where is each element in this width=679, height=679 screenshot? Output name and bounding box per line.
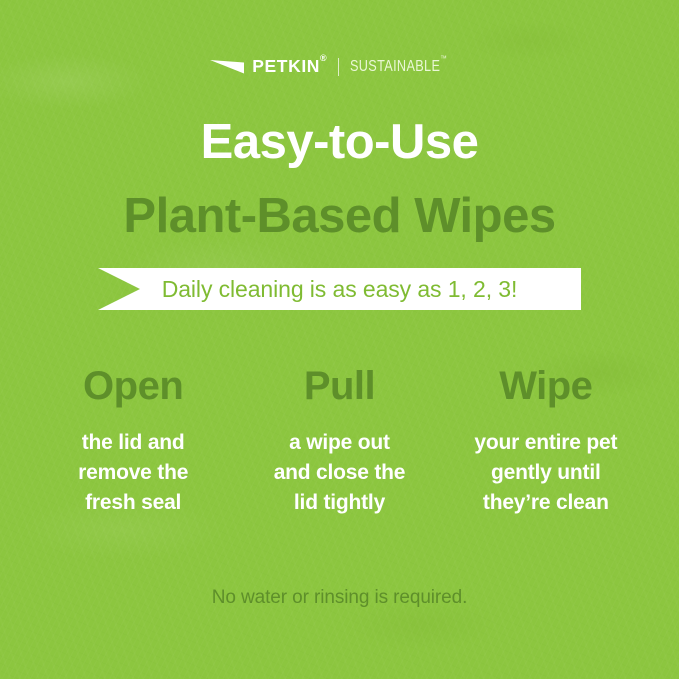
step-body-line: a wipe out: [240, 428, 438, 458]
step-body: the lid and remove the fresh seal: [34, 428, 232, 517]
step-body-line: the lid and: [34, 428, 232, 458]
ribbon-banner: Daily cleaning is as easy as 1, 2, 3!: [98, 268, 581, 310]
brand-subline-text: SUSTAINABLE: [350, 58, 440, 75]
step-body-line: fresh seal: [34, 488, 232, 518]
step-title: Pull: [240, 366, 438, 406]
step-open: Open the lid and remove the fresh seal: [30, 366, 236, 517]
registered-mark-icon: ®: [320, 53, 327, 63]
step-pull: Pull a wipe out and close the lid tightl…: [236, 366, 442, 517]
petkin-swoosh-icon: [210, 60, 244, 75]
brand-lockup: PETKIN® SUSTAINABLE™: [0, 56, 679, 78]
trademark-mark-icon: ™: [441, 54, 448, 63]
steps-row: Open the lid and remove the fresh seal P…: [30, 366, 649, 517]
step-body-line: they’re clean: [447, 488, 645, 518]
product-infographic-poster: PETKIN® SUSTAINABLE™ Easy-to-Use Plant-B…: [0, 0, 679, 679]
step-body: a wipe out and close the lid tightly: [240, 428, 438, 517]
step-body-line: remove the: [34, 458, 232, 488]
brand-name: PETKIN®: [252, 58, 327, 76]
step-body-line: and close the: [240, 458, 438, 488]
headline-line-1: Easy-to-Use: [0, 118, 679, 167]
ribbon-text: Daily cleaning is as easy as 1, 2, 3!: [162, 278, 518, 301]
step-title: Open: [34, 366, 232, 406]
step-body-line: gently until: [447, 458, 645, 488]
brand-name-text: PETKIN: [252, 56, 320, 76]
step-body: your entire pet gently until they’re cle…: [447, 428, 645, 517]
brand-divider: [338, 58, 339, 76]
step-body-line: your entire pet: [447, 428, 645, 458]
step-body-line: lid tightly: [240, 488, 438, 518]
footer-note: No water or rinsing is required.: [0, 588, 679, 607]
brand-subline: SUSTAINABLE™: [350, 59, 447, 75]
step-wipe: Wipe your entire pet gently until they’r…: [443, 366, 649, 517]
step-title: Wipe: [447, 366, 645, 406]
headline-line-2: Plant-Based Wipes: [0, 192, 679, 241]
